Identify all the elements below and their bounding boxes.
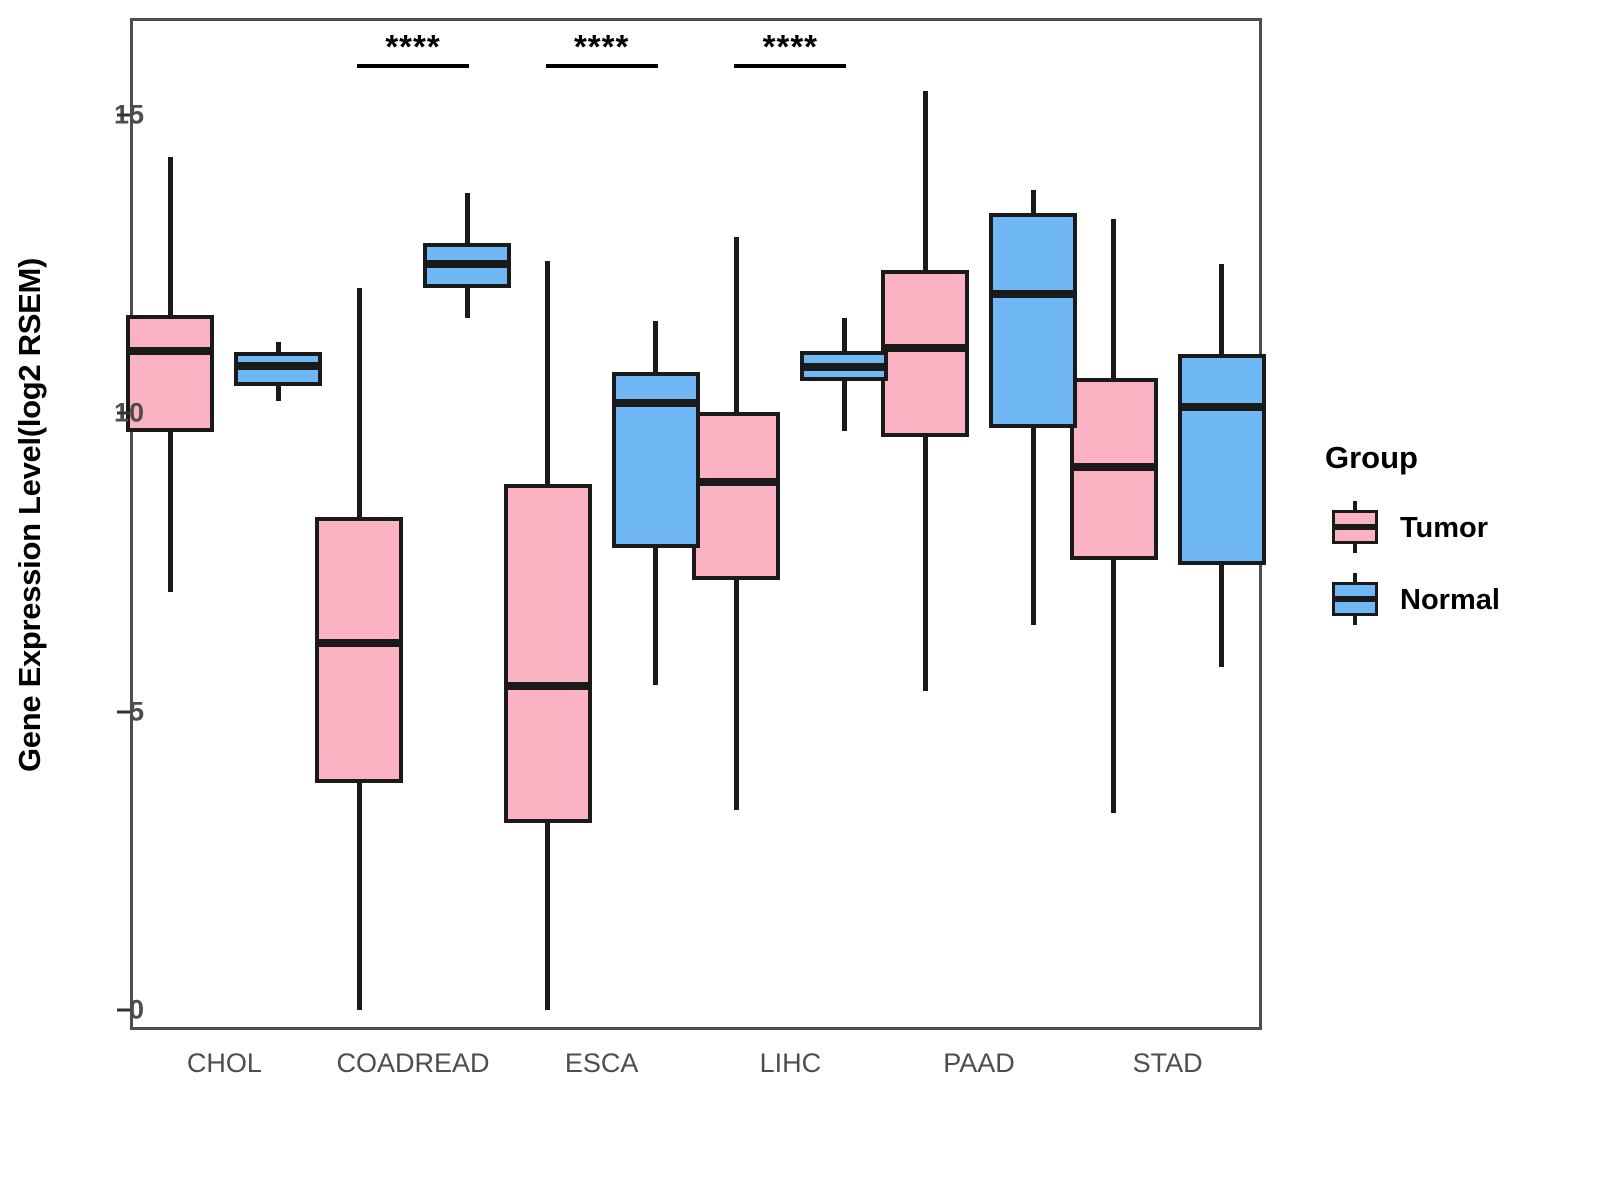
median-line <box>234 362 322 370</box>
box-iqr <box>315 517 403 783</box>
whisker-lower <box>357 783 362 1010</box>
whisker-upper <box>653 321 658 372</box>
x-axis-tick-label-coadread: COADREAD <box>336 1048 489 1079</box>
whisker-lower <box>1111 560 1116 814</box>
median-line <box>881 344 969 352</box>
whisker-lower <box>1031 428 1036 625</box>
whisker-lower <box>842 381 847 432</box>
whisker-lower <box>465 288 470 318</box>
whisker-upper <box>1031 190 1036 214</box>
significance-stars: **** <box>385 28 440 66</box>
y-axis-tick-mark <box>117 114 130 117</box>
whisker-upper <box>168 157 173 315</box>
median-line <box>989 290 1077 298</box>
whisker-lower <box>734 580 739 810</box>
legend-key-median <box>1332 524 1378 530</box>
whisker-upper <box>1111 219 1116 377</box>
whisker-lower <box>1219 565 1224 666</box>
median-line <box>800 363 888 371</box>
median-line <box>612 399 700 407</box>
x-axis-tick-label-esca: ESCA <box>565 1048 639 1079</box>
legend-key-whisker-upper <box>1353 501 1357 513</box>
whisker-lower <box>276 386 281 401</box>
significance-bar <box>734 64 846 68</box>
median-line <box>692 478 780 486</box>
y-axis-title-text: Gene Expression Level(log2 RSEM) <box>12 258 48 772</box>
box-iqr <box>989 213 1077 428</box>
median-line <box>423 260 511 268</box>
y-axis-tick-label: 0 <box>74 995 144 1026</box>
box-iqr <box>1178 354 1266 566</box>
y-axis-tick-label: 5 <box>74 696 144 727</box>
legend-key-whisker-upper <box>1353 573 1357 585</box>
median-line <box>504 682 592 690</box>
legend-key-median <box>1332 596 1378 602</box>
median-line <box>1178 403 1266 411</box>
whisker-upper <box>1219 264 1224 354</box>
whisker-lower <box>168 432 173 592</box>
median-line <box>1070 463 1158 471</box>
whisker-upper <box>465 193 470 243</box>
significance-bar <box>546 64 658 68</box>
box-iqr <box>692 412 780 580</box>
y-axis-tick-mark <box>117 412 130 415</box>
whisker-lower <box>923 437 928 691</box>
legend-key-whisker-lower <box>1353 613 1357 625</box>
whisker-lower <box>653 548 658 685</box>
y-axis-tick-mark <box>117 1009 130 1012</box>
significance-stars: **** <box>574 28 629 66</box>
legend-title: Group <box>1325 440 1418 476</box>
legend-key-whisker-lower <box>1353 541 1357 553</box>
whisker-upper <box>357 288 362 517</box>
median-line <box>315 639 403 647</box>
legend-key-tumor[interactable] <box>1332 510 1378 544</box>
significance-stars: **** <box>763 28 818 66</box>
x-axis-tick-label-stad: STAD <box>1133 1048 1203 1079</box>
y-axis-tick-label: 10 <box>74 398 144 429</box>
whisker-upper <box>276 342 281 353</box>
boxplot-figure: Gene Expression Level(log2 RSEM) 051015C… <box>0 0 1600 1200</box>
median-line <box>126 347 214 355</box>
whisker-upper <box>545 261 550 484</box>
whisker-lower <box>545 823 550 1010</box>
x-axis-tick-label-lihc: LIHC <box>760 1048 822 1079</box>
legend-label-normal: Normal <box>1400 584 1500 617</box>
box-iqr <box>504 484 592 823</box>
plot-area <box>130 18 1262 1030</box>
y-axis-title: Gene Expression Level(log2 RSEM) <box>0 0 60 1030</box>
x-axis-tick-label-paad: PAAD <box>943 1048 1015 1079</box>
whisker-upper <box>842 318 847 351</box>
y-axis-tick-mark <box>117 710 130 713</box>
significance-bar <box>357 64 469 68</box>
x-axis-tick-label-chol: CHOL <box>187 1048 262 1079</box>
legend-label-tumor: Tumor <box>1400 512 1488 545</box>
whisker-upper <box>923 91 928 270</box>
box-iqr <box>612 372 700 549</box>
y-axis-tick-label: 15 <box>74 100 144 131</box>
box-iqr <box>881 270 969 437</box>
legend-key-normal[interactable] <box>1332 582 1378 616</box>
whisker-upper <box>734 237 739 412</box>
